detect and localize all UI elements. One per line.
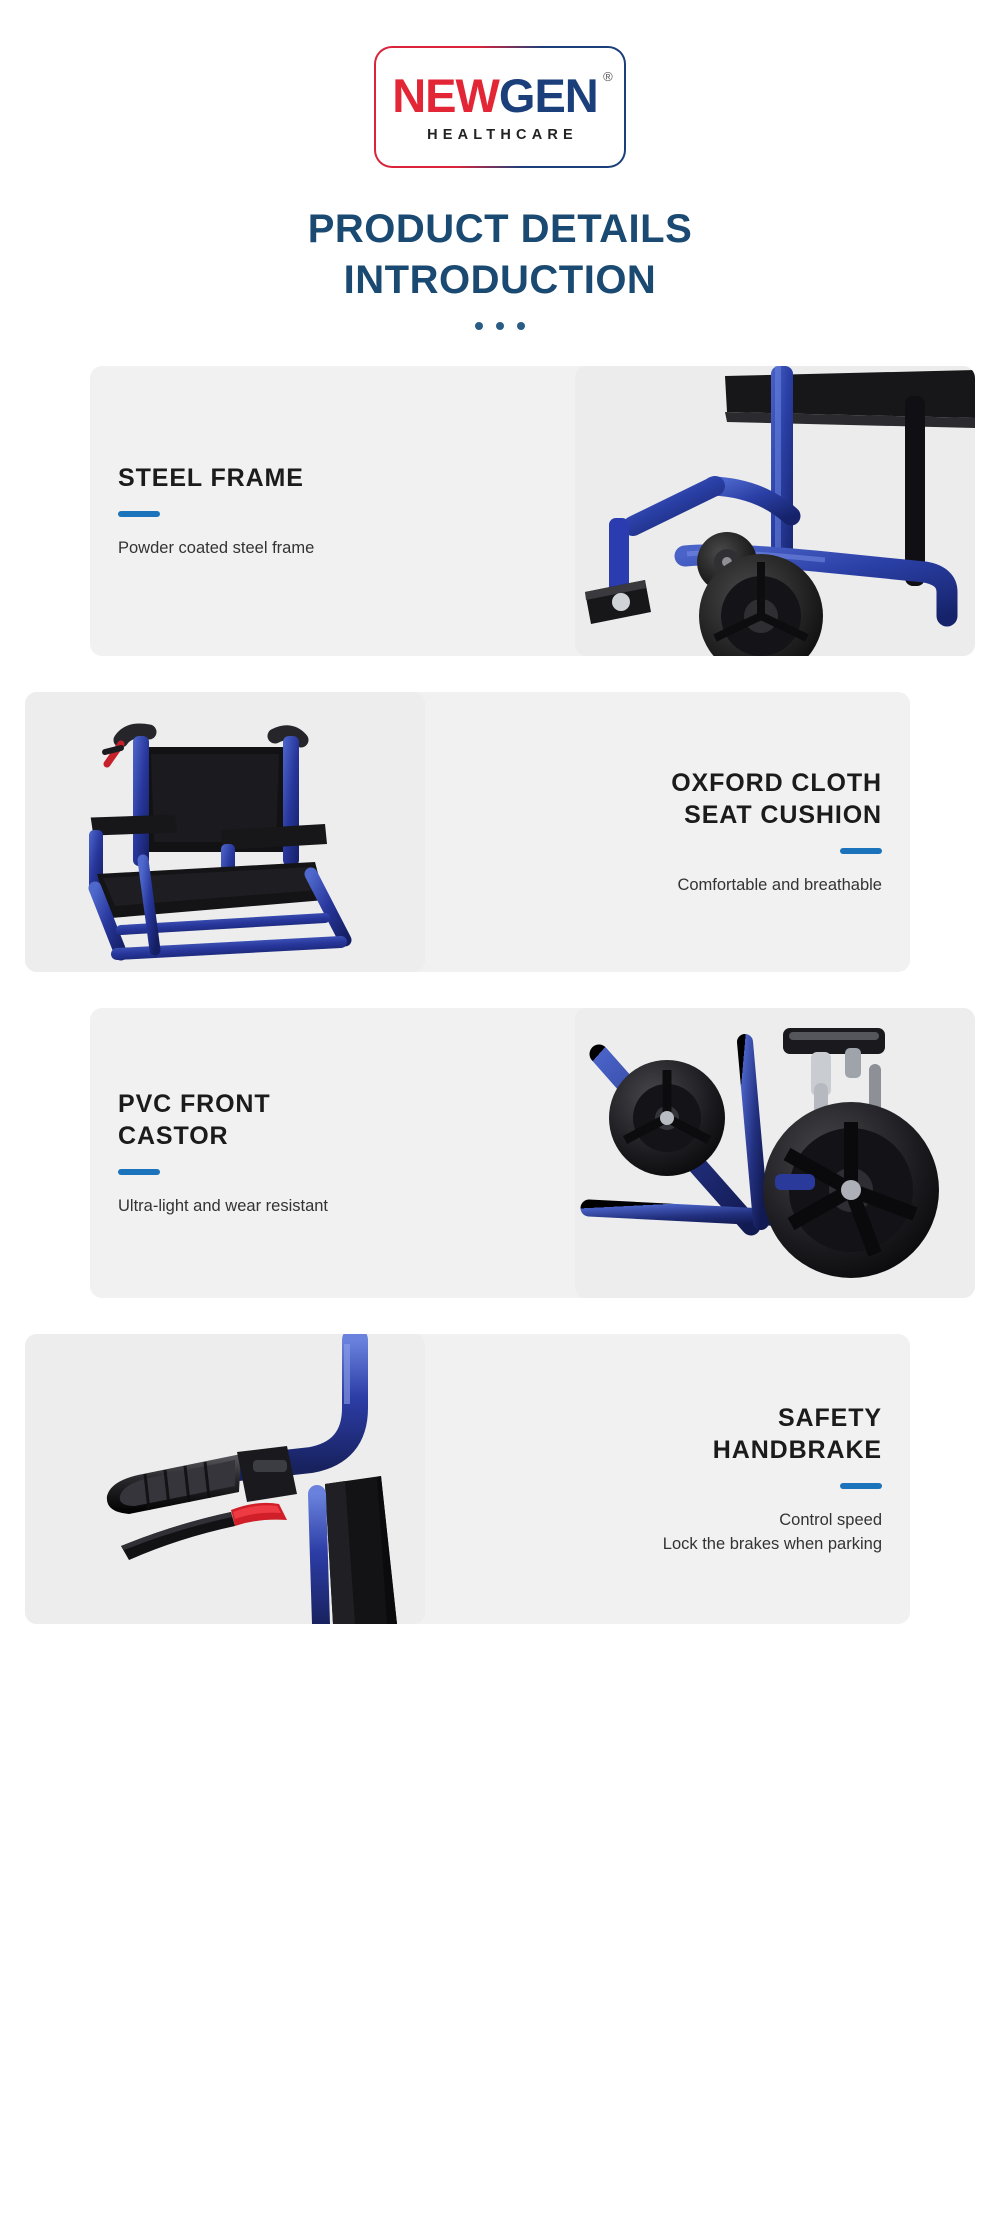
card-text-block: PVC FRONT CASTOR Ultra-light and wear re… bbox=[118, 1008, 448, 1298]
accent-bar bbox=[840, 1483, 882, 1489]
card-description: Ultra-light and wear resistant bbox=[118, 1195, 328, 1219]
card-title: SAFETY HANDBRAKE bbox=[713, 1402, 882, 1467]
steel-frame-illustration bbox=[575, 366, 975, 656]
product-photo-steel-frame bbox=[575, 366, 975, 656]
feature-card-oxford-cloth-seat-cushion: OXFORD CLOTH SEAT CUSHION Comfortable an… bbox=[90, 692, 910, 972]
product-photo-front-castor bbox=[575, 1008, 975, 1298]
card-title: PVC FRONT CASTOR bbox=[118, 1088, 271, 1153]
card-title: STEEL FRAME bbox=[118, 462, 304, 495]
accent-bar bbox=[118, 511, 160, 517]
decorative-dots bbox=[475, 322, 525, 330]
handbrake-illustration bbox=[25, 1334, 425, 1624]
page-title-line-2: INTRODUCTION bbox=[344, 258, 657, 302]
card-title: OXFORD CLOTH SEAT CUSHION bbox=[671, 767, 882, 832]
accent-bar bbox=[118, 1169, 160, 1175]
front-castor-illustration bbox=[575, 1008, 975, 1298]
brand-tagline: HEALTHCARE bbox=[422, 127, 578, 143]
page-title: PRODUCT DETAILS INTRODUCTION bbox=[308, 204, 693, 306]
feature-card-pvc-front-castor: PVC FRONT CASTOR Ultra-light and wear re… bbox=[90, 1008, 910, 1298]
dot-icon bbox=[496, 322, 504, 330]
brand-logo: NEWGEN® HEALTHCARE bbox=[374, 46, 626, 168]
product-photo-seat-cushion bbox=[25, 692, 425, 972]
product-photo-handbrake bbox=[25, 1334, 425, 1624]
brand-wordmark-gen: GEN bbox=[499, 69, 598, 122]
feature-card-safety-handbrake: SAFETY HANDBRAKE Control speed Lock the … bbox=[90, 1334, 910, 1624]
card-text-block: STEEL FRAME Powder coated steel frame bbox=[118, 366, 448, 656]
dot-icon bbox=[475, 322, 483, 330]
accent-bar bbox=[840, 848, 882, 854]
brand-wordmark: NEWGEN® bbox=[392, 72, 608, 119]
page-header: NEWGEN® HEALTHCARE PRODUCT DETAILS INTRO… bbox=[0, 0, 1000, 330]
registered-trademark-icon: ® bbox=[603, 70, 612, 83]
feature-card-steel-frame: STEEL FRAME Powder coated steel frame bbox=[90, 366, 910, 656]
card-description: Powder coated steel frame bbox=[118, 537, 314, 561]
card-text-block: SAFETY HANDBRAKE Control speed Lock the … bbox=[552, 1334, 882, 1624]
card-description: Comfortable and breathable bbox=[677, 874, 882, 898]
page-title-line-1: PRODUCT DETAILS bbox=[308, 207, 693, 251]
seat-cushion-illustration bbox=[25, 692, 425, 972]
feature-card-list: STEEL FRAME Powder coated steel frame bbox=[0, 366, 1000, 1624]
card-description: Control speed Lock the brakes when parki… bbox=[663, 1509, 882, 1557]
brand-wordmark-new: NEW bbox=[392, 69, 499, 122]
dot-icon bbox=[517, 322, 525, 330]
card-text-block: OXFORD CLOTH SEAT CUSHION Comfortable an… bbox=[552, 692, 882, 972]
